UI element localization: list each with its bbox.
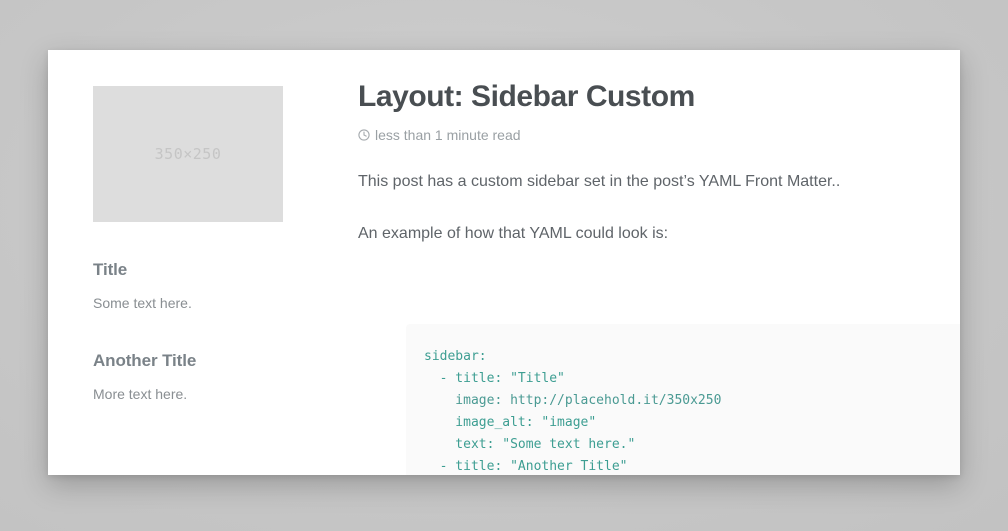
article-paragraph: This post has a custom sidebar set in th…: [358, 170, 960, 195]
sidebar-placeholder-image: 350×250: [93, 86, 283, 222]
placeholder-size-label: 350×250: [155, 145, 222, 163]
page-background: 350×250 Title Some text here. Another Ti…: [0, 0, 1008, 531]
code-line: image: http://placehold.it/350x250: [424, 393, 721, 408]
sidebar-block: Title Some text here.: [93, 260, 285, 314]
code-content: sidebar: - title: "Title" image: http://…: [424, 349, 721, 475]
code-line: text: "Some text here.": [424, 437, 635, 452]
sidebar-block: Another Title More text here.: [93, 351, 285, 405]
sidebar-block-text: More text here.: [93, 384, 285, 405]
page-title: Layout: Sidebar Custom: [358, 80, 960, 115]
sidebar-block-text: Some text here.: [93, 293, 285, 314]
code-line: - title: "Another Title": [424, 459, 628, 474]
sidebar-block-title: Title: [93, 260, 285, 280]
clock-icon: [358, 129, 370, 141]
read-time-label: less than 1 minute read: [375, 127, 521, 143]
sidebar-block-title: Another Title: [93, 351, 285, 371]
sidebar: 350×250 Title Some text here. Another Ti…: [93, 86, 285, 431]
code-block: sidebar: - title: "Title" image: http://…: [406, 324, 960, 475]
code-line: image_alt: "image": [424, 415, 596, 430]
article-paragraph: An example of how that YAML could look i…: [358, 222, 960, 247]
article-main: Layout: Sidebar Custom less than 1 minut…: [358, 80, 960, 475]
code-line: - title: "Title": [424, 371, 565, 386]
article-meta: less than 1 minute read: [358, 127, 960, 143]
code-line: sidebar:: [424, 349, 487, 364]
content-card: 350×250 Title Some text here. Another Ti…: [48, 50, 960, 475]
